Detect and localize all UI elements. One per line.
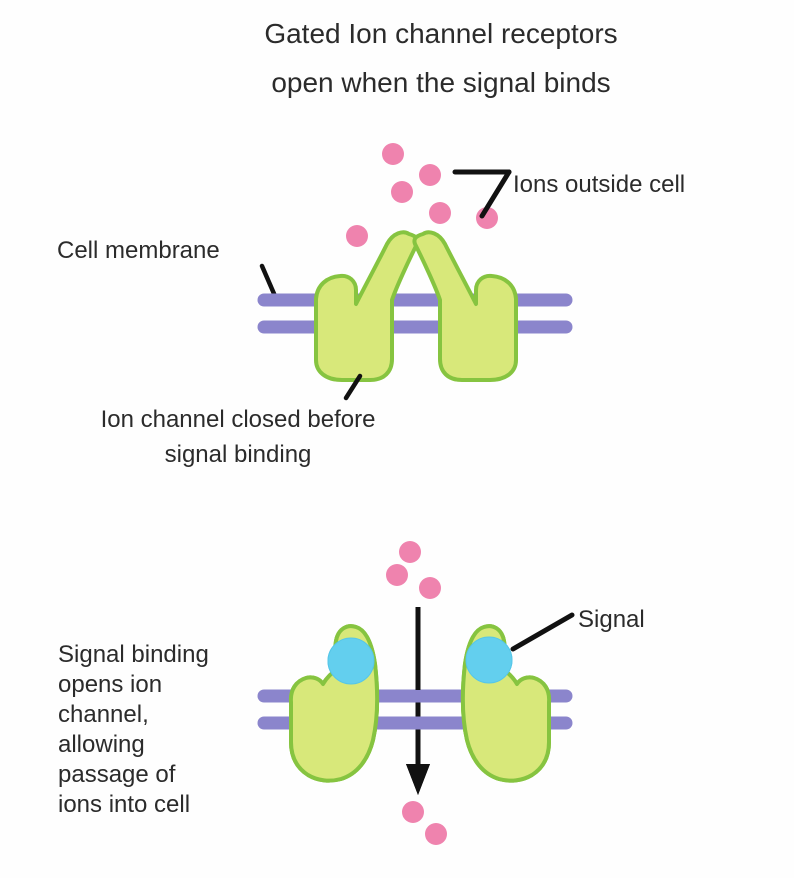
description-line-2: opens ion: [58, 671, 162, 698]
ion-dot: [425, 823, 447, 845]
ion-dot: [429, 202, 451, 224]
signal-molecule-front-left: [328, 638, 374, 684]
figure-title-line-1: Gated Ion channel receptors: [264, 18, 617, 49]
cell-membrane-bilayer-top: [264, 300, 566, 327]
cell-membrane-leader: [262, 266, 275, 296]
signal-molecule-front-right: [466, 637, 512, 683]
closed-channel-caption-line-1: Ion channel closed before: [101, 406, 376, 433]
cell-membrane-label: Cell membrane: [57, 237, 220, 264]
figure-title-line-2: open when the signal binds: [271, 67, 610, 98]
ion-dot: [419, 577, 441, 599]
closed-channel-caption-line-2: signal binding: [165, 441, 312, 468]
ions-outside-leader-diagonal: [482, 172, 509, 216]
ion-group-inside-cell: [402, 801, 447, 845]
ion-group-outside-top: [346, 143, 498, 247]
ion-dot: [399, 541, 421, 563]
figure-root: Gated Ion channel receptors open when th…: [0, 0, 794, 878]
ion-flow-arrow-head-front: [406, 764, 430, 795]
description-line-6: ions into cell: [58, 791, 190, 818]
closed-channel-panel: Ions outside cell Cell membrane Ion chan…: [57, 143, 685, 468]
ion-dot: [402, 801, 424, 823]
open-channel-panel: Signal Signal binding opens ion channel,…: [58, 541, 645, 845]
signal-label: Signal: [578, 606, 645, 633]
description-line-3: channel,: [58, 701, 149, 728]
ion-dot: [382, 143, 404, 165]
description-line-5: passage of: [58, 761, 176, 788]
signal-label-leader: [513, 615, 572, 649]
ion-dot: [346, 225, 368, 247]
ion-dot: [419, 164, 441, 186]
description-line-4: allowing: [58, 731, 145, 758]
ion-group-above-open-channel: [386, 541, 441, 599]
ion-dot: [391, 181, 413, 203]
description-line-1: Signal binding: [58, 641, 209, 668]
ions-outside-cell-label: Ions outside cell: [513, 171, 685, 198]
ion-channel-diagram: Gated Ion channel receptors open when th…: [0, 0, 794, 878]
ion-dot: [386, 564, 408, 586]
signal-binding-description: Signal binding opens ion channel, allowi…: [58, 641, 209, 818]
